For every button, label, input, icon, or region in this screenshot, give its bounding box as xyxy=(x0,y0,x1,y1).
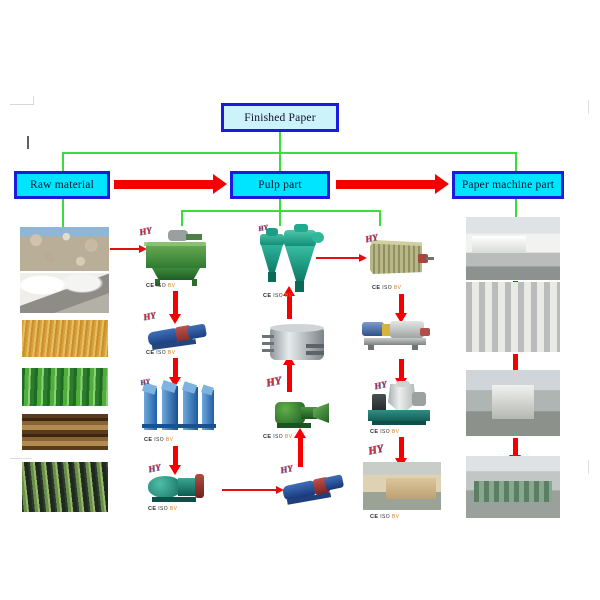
equip-double-disc-refiner xyxy=(148,470,210,504)
watermark-hy-6: HY xyxy=(265,375,282,390)
arrow-rawphoto-to-hydrapulper xyxy=(110,248,140,250)
cert-vibrating-washer: CE ISO BV xyxy=(372,285,401,291)
photo-press-section xyxy=(466,370,560,436)
equip-pressure-screen-drum xyxy=(262,322,332,364)
cert-paper-machine-photo: CE ISO BV xyxy=(370,514,399,520)
box-raw-material-label: Raw material xyxy=(30,179,94,191)
crop-mark-right-top xyxy=(588,100,589,114)
connector-raw-down xyxy=(62,199,64,227)
box-raw-material[interactable]: Raw material xyxy=(14,171,110,199)
photo-reel-section xyxy=(466,456,560,518)
box-paper-machine-part[interactable]: Paper machine part xyxy=(452,171,564,199)
cert-bv-label: BV xyxy=(168,283,175,289)
cert-disc-refiner: CE ISO BV xyxy=(263,434,292,440)
photo-wood-logs xyxy=(22,414,108,450)
cert-double-disc-refiner: CE ISO BV xyxy=(148,506,177,512)
crop-mark-top-left-v xyxy=(33,96,34,105)
photo-paper-machine-line xyxy=(363,462,441,510)
cert-pressure-screen: CE ISO BV xyxy=(370,429,399,435)
photo-bamboo xyxy=(22,368,108,406)
photo-waste-paper xyxy=(20,227,109,271)
cert-cleaners: CE ISO BV xyxy=(144,437,173,443)
arrow-pulp-to-machine xyxy=(336,180,436,189)
photo-white-pulp-board xyxy=(20,273,109,313)
cert-ce-label: CE xyxy=(146,283,154,289)
arrow-hydrapulper-to-pump xyxy=(173,291,178,315)
equip-disc-refiner xyxy=(275,398,331,430)
box-finished-paper[interactable]: Finished Paper xyxy=(221,103,339,132)
text-cursor-mark xyxy=(27,136,29,149)
arrow-raw-to-pulp xyxy=(114,180,214,189)
arrow-press-to-reel xyxy=(513,438,518,456)
equip-hydrocyclone-cleaners xyxy=(140,382,218,434)
equip-slurry-pump xyxy=(146,320,208,350)
box-pulp-part-label: Pulp part xyxy=(258,179,302,191)
watermark-hy-10: HY xyxy=(367,443,384,458)
cert-iso-label: ISO xyxy=(156,283,166,289)
photo-dryer-section xyxy=(466,282,560,352)
arrow-pump-to-disc-refiner xyxy=(298,437,303,467)
photo-wheat-straw xyxy=(22,320,108,357)
box-finished-paper-label: Finished Paper xyxy=(244,112,315,124)
process-flow-diagram: Finished Paper Raw material Pulp part Pa… xyxy=(0,0,600,600)
connector-machine-down xyxy=(515,199,517,217)
arrow-conical-to-pressure-screen xyxy=(399,359,404,379)
equip-hydrapulper xyxy=(142,228,210,286)
arrow-cleaners-to-refiner xyxy=(173,446,178,466)
connector-pulp-leg-left xyxy=(181,210,183,226)
crop-mark-right-bottom xyxy=(588,460,589,474)
arrow-washer-to-conical-refiner xyxy=(399,294,404,314)
connector-top-bus xyxy=(62,152,517,154)
crop-mark-top-left-h xyxy=(10,104,34,105)
arrow-refiner-to-pressure-drum xyxy=(287,364,292,392)
box-pulp-part[interactable]: Pulp part xyxy=(230,171,330,199)
arrow-pump-to-cleaners xyxy=(173,358,178,378)
cert-cyclone: CE ISO BV xyxy=(263,293,292,299)
connector-pulp-leg-right xyxy=(379,210,381,226)
cert-hydrapulper: CE ISO BV xyxy=(146,283,175,289)
arrow-refiner-to-centrifugal-pump xyxy=(222,489,277,491)
arrow-screen-to-machine-photo xyxy=(399,437,404,459)
photo-sugarcane-bagasse xyxy=(22,462,108,512)
crop-mark-left-mid xyxy=(10,458,32,459)
box-paper-machine-part-label: Paper machine part xyxy=(462,179,554,191)
equip-vibrating-washer xyxy=(368,238,434,282)
equip-conical-refiner xyxy=(362,318,434,354)
cert-slurry-pump: CE ISO BV xyxy=(146,350,175,356)
equip-centrifugal-pump xyxy=(283,473,345,505)
arrow-cyclone-to-washer xyxy=(316,257,360,259)
photo-forming-section xyxy=(466,217,560,280)
